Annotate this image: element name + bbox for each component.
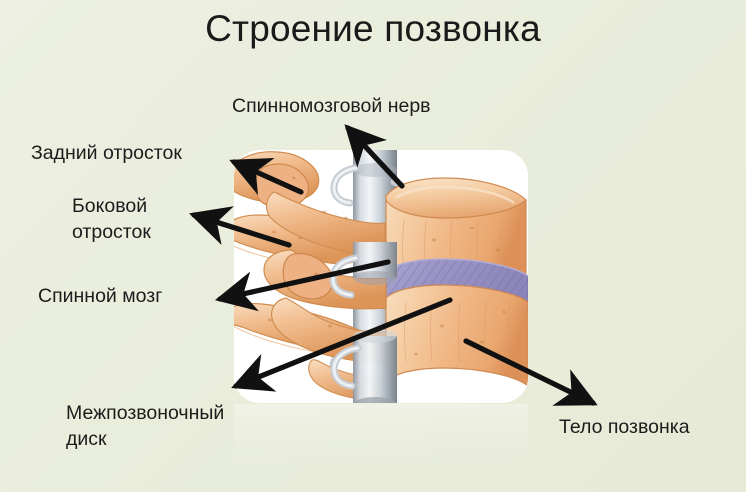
label-intervertebral-disc: Межпозвоночный диск	[66, 400, 224, 452]
label-spinal-cord: Спинной мозг	[38, 283, 162, 309]
label-lateral-process: Боковой отросток	[72, 193, 151, 245]
label-posterior-process: Задний отросток	[31, 140, 182, 166]
vertebra-drawing	[234, 150, 528, 403]
slide-canvas: Строение позвонка	[0, 0, 746, 492]
label-spinal-nerve: Спинномозговой нерв	[232, 93, 431, 119]
page-title: Строение позвонка	[0, 8, 746, 50]
label-vertebral-body: Тело позвонка	[559, 414, 690, 440]
vertebra-illustration	[234, 150, 528, 403]
vertebra-illustration-card	[234, 150, 528, 403]
card-reflection	[234, 404, 528, 478]
